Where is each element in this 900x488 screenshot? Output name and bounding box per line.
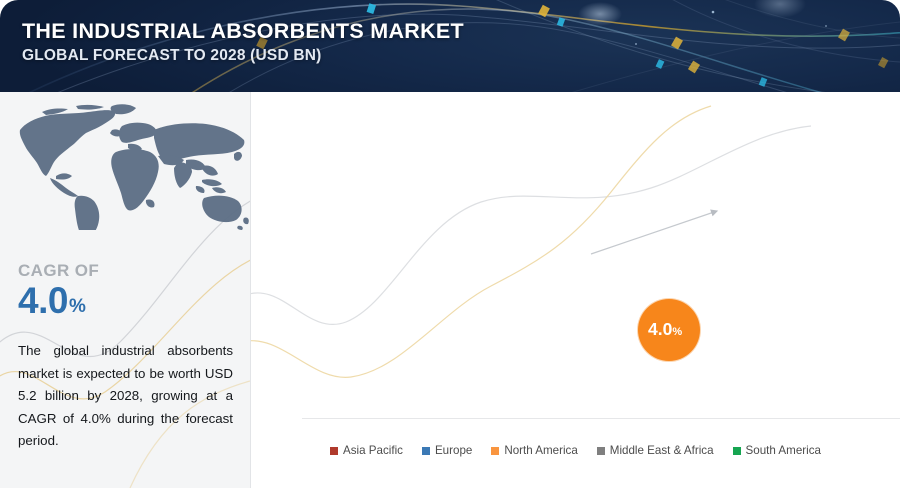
legend-item-europe[interactable]: Europe [422, 444, 472, 457]
legend-item-asia-pacific[interactable]: Asia Pacific [330, 444, 403, 457]
cagr-value: 4.0 [18, 282, 68, 319]
cagr-value-row: 4.0 % [18, 282, 99, 319]
page-title: THE INDUSTRIAL ABSORBENTS MARKET [22, 18, 464, 45]
legend-swatch-icon [422, 447, 430, 455]
cagr-badge[interactable]: 4.0 % [638, 299, 700, 361]
plot-area: 4.1 2022 4.3 [251, 92, 900, 488]
legend-item-middle-east-africa[interactable]: Middle East & Africa [597, 444, 714, 457]
cagr-percent-symbol: % [68, 297, 86, 319]
cagr-badge-value: 4.0 [648, 321, 672, 339]
chart-legend: Asia Pacific Europe North America Middle… [251, 444, 900, 457]
legend-label: Middle East & Africa [610, 444, 714, 457]
cagr-highlight: CAGR OF 4.0 % [18, 260, 99, 319]
legend-item-south-america[interactable]: South America [733, 444, 821, 457]
legend-swatch-icon [597, 447, 605, 455]
legend-swatch-icon [330, 447, 338, 455]
cagr-badge-percent-symbol: % [672, 327, 682, 339]
cagr-label: CAGR OF [18, 260, 99, 282]
legend-label: South America [746, 444, 821, 457]
sidebar-body-text: The global industrial absorbents market … [18, 340, 233, 453]
header-text-block: THE INDUSTRIAL ABSORBENTS MARKET GLOBAL … [22, 18, 464, 67]
infographic-page: THE INDUSTRIAL ABSORBENTS MARKET GLOBAL … [0, 0, 900, 488]
legend-label: Asia Pacific [343, 444, 403, 457]
sidebar-panel: CAGR OF 4.0 % The global industrial abso… [0, 92, 250, 488]
cagr-badge-inner: 4.0 % [638, 321, 682, 339]
legend-swatch-icon [733, 447, 741, 455]
chart-panel: 4.1 2022 4.3 [251, 92, 900, 488]
legend-label: Europe [435, 444, 472, 457]
header-banner: THE INDUSTRIAL ABSORBENTS MARKET GLOBAL … [0, 0, 900, 92]
world-map-icon [6, 100, 250, 255]
legend-swatch-icon [491, 447, 499, 455]
page-subtitle: GLOBAL FORECAST TO 2028 (USD BN) [22, 45, 464, 67]
legend-item-north-america[interactable]: North America [491, 444, 577, 457]
legend-label: North America [504, 444, 577, 457]
trend-arrow-icon [251, 92, 900, 488]
